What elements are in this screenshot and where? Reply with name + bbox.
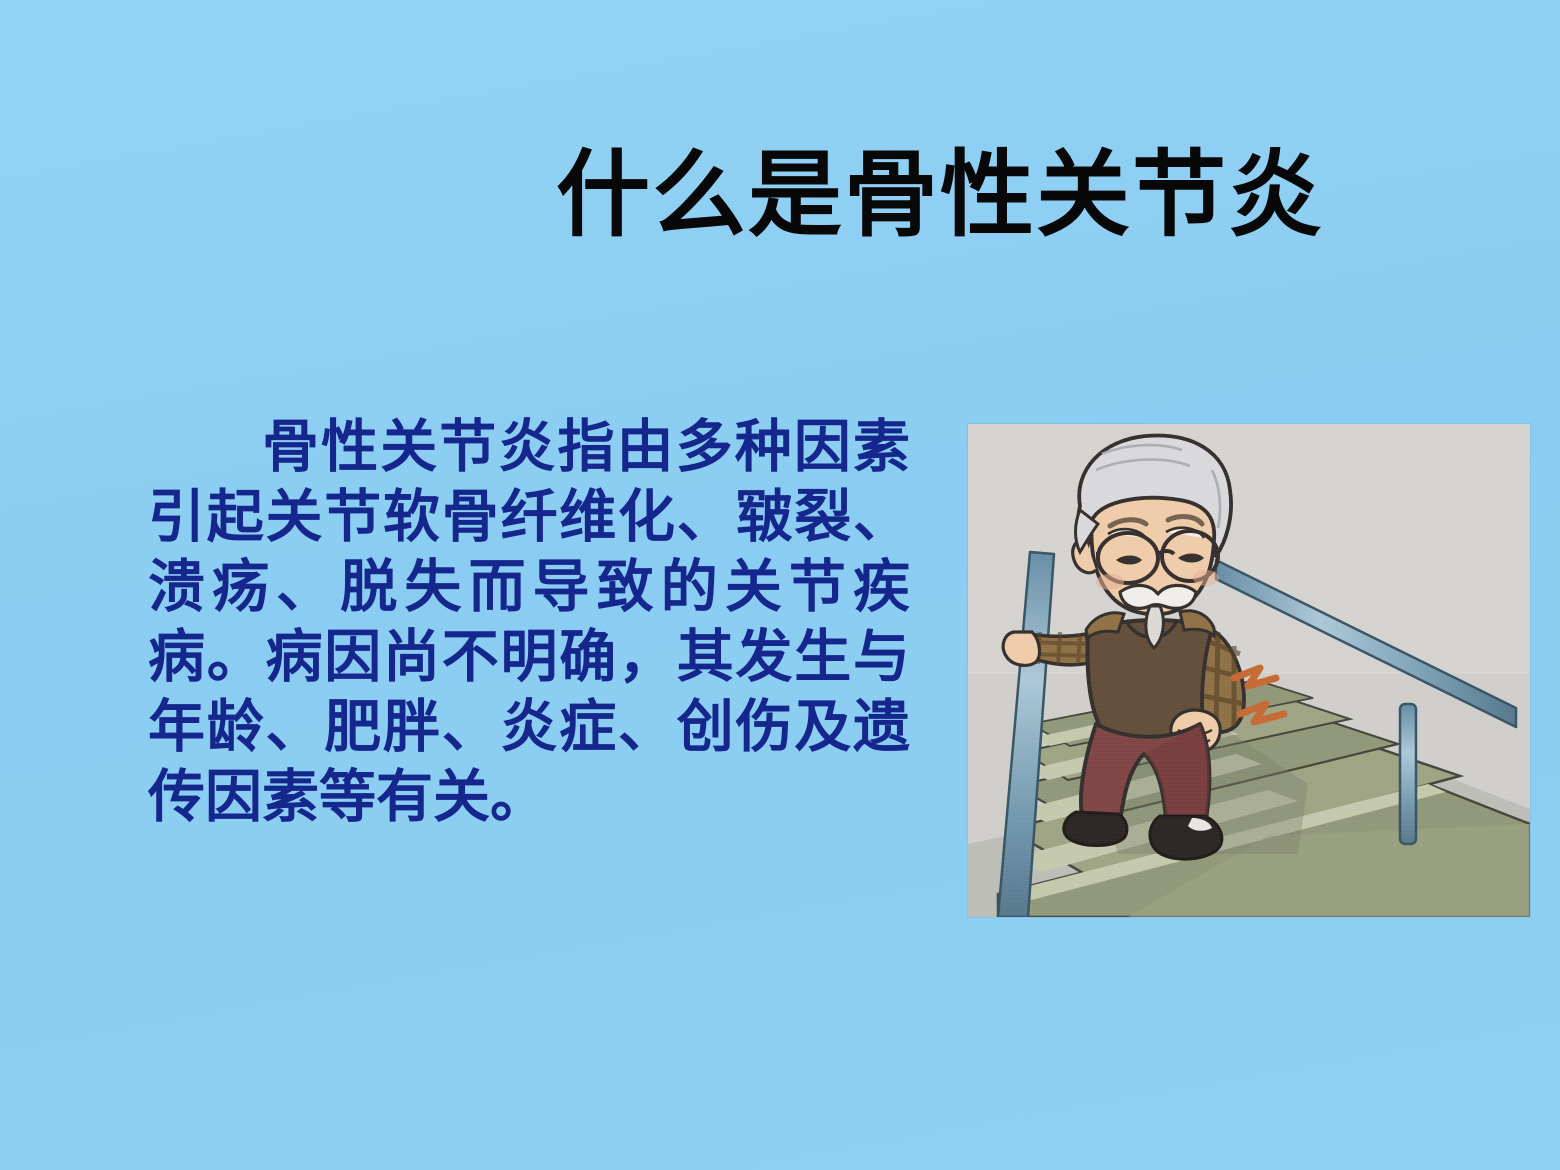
illustration-svg: [968, 424, 1530, 917]
illustration-elderly-man-knee-pain: [968, 424, 1530, 917]
slide-canvas: 什么是骨性关节炎 骨性关节炎指由多种因素引起关节软骨纤维化、皲裂、溃疡、脱失而导…: [0, 0, 1560, 1170]
page-title: 什么是骨性关节炎: [556, 146, 1336, 245]
body-paragraph: 骨性关节炎指由多种因素引起关节软骨纤维化、皲裂、溃疡、脱失而导致的关节疾病。病因…: [148, 412, 910, 832]
